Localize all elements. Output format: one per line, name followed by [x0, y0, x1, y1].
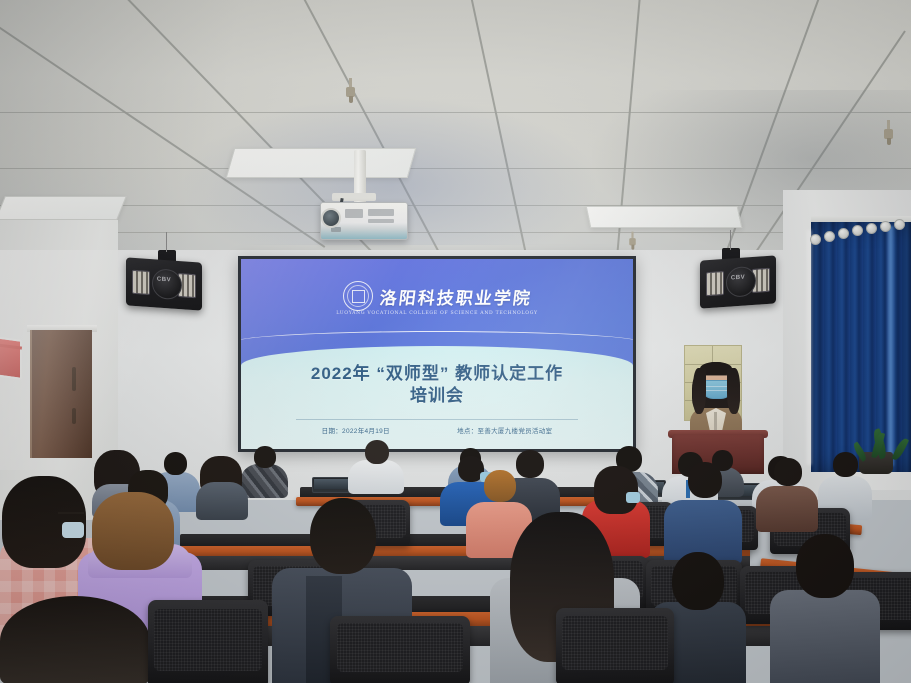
audience-member — [196, 456, 248, 516]
audience-member — [348, 440, 404, 492]
wall-speaker-right: CBV — [700, 255, 776, 308]
audience-chair[interactable] — [330, 616, 470, 683]
wall-speaker-left: CBV — [126, 257, 202, 310]
window-curtain[interactable] — [811, 222, 911, 472]
audience-member — [756, 458, 818, 528]
college-crest-icon — [343, 281, 373, 311]
ceiling — [0, 0, 911, 258]
slide-title: 2022年 “双师型” 教师认定工作 培训会 — [241, 363, 633, 408]
slide-arc-divider — [241, 331, 633, 354]
slide-location: 地点：至善大厦九楼党员活动室 — [457, 425, 552, 435]
audience-chair[interactable] — [556, 608, 674, 683]
curtain-highlight — [886, 226, 895, 466]
door-handle-icon[interactable] — [72, 367, 76, 391]
slide-logo-row: 洛阳科技职业学院 — [241, 281, 633, 311]
audience-member — [664, 462, 742, 562]
door-handle-icon[interactable] — [72, 408, 76, 424]
fire-sprinkler-icon — [629, 232, 635, 251]
led-panel-light — [226, 148, 417, 178]
institution-name-en: LUOYANG VOCATIONAL COLLEGE OF SCIENCE AN… — [241, 311, 633, 316]
audience-member — [770, 534, 880, 683]
slide-title-line1: 2022年 “双师型” 教师认定工作 — [241, 363, 633, 385]
safety-sign-icon — [0, 336, 22, 380]
speaker-wire — [730, 230, 731, 250]
slide-meta-row: 日期：2022年4月19日 地点：至善大厦九楼党员活动室 — [241, 425, 633, 435]
led-panel-light — [0, 196, 127, 220]
institution-name-cn: 洛阳科技职业学院 — [378, 284, 533, 309]
projector-lens-icon — [321, 208, 341, 228]
slide-divider — [296, 419, 578, 420]
speaker-wire — [166, 232, 167, 252]
audience-member — [0, 596, 150, 683]
projector-mount-plate — [332, 193, 376, 201]
rear-door[interactable] — [30, 330, 92, 458]
fire-sprinkler-icon — [346, 78, 355, 104]
window-edge-glow — [805, 230, 811, 465]
audience-chair[interactable] — [148, 600, 268, 683]
photo-scene: CBV CBV 洛阳科技职业学院 LUOYANG VOCATIONAL COL — [0, 0, 911, 683]
projection-screen: 洛阳科技职业学院 LUOYANG VOCATIONAL COLLEGE OF S… — [238, 256, 636, 452]
slide-title-line2: 培训会 — [241, 385, 633, 407]
slide-content: 洛阳科技职业学院 LUOYANG VOCATIONAL COLLEGE OF S… — [241, 259, 633, 449]
fire-sprinkler-icon — [884, 120, 893, 146]
slide-date: 日期：2022年4月19日 — [322, 425, 390, 435]
led-panel-light — [586, 206, 743, 228]
